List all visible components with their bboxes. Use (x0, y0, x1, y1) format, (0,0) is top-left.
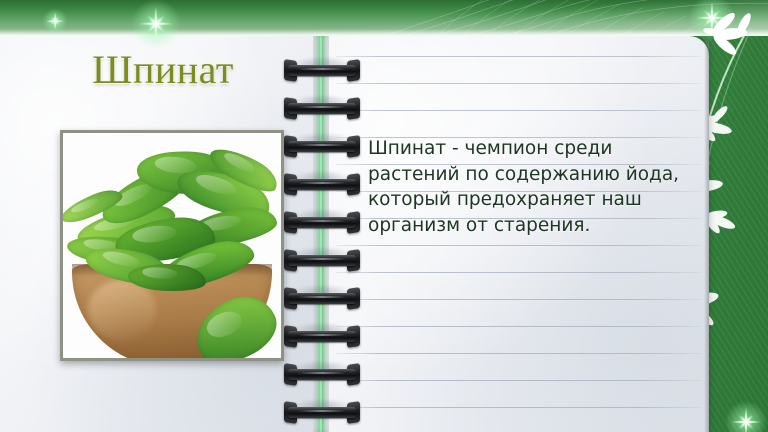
spiral-ring (282, 286, 362, 312)
spinach-photo-frame (60, 130, 284, 361)
page-rule-line (336, 407, 702, 408)
page-rule-line (336, 380, 702, 381)
spiral-ring (282, 248, 362, 274)
page-rule-line (336, 272, 702, 273)
spiral-ring (282, 324, 362, 350)
page-rule-line (336, 245, 702, 246)
spiral-rings (282, 36, 362, 432)
page-title: Шпинат (28, 50, 298, 90)
spiral-ring (282, 134, 362, 160)
page-rule-line (336, 353, 702, 354)
spiral-ring (282, 172, 362, 198)
page-rule-line (336, 110, 702, 111)
page-rule-line (336, 83, 702, 84)
page-rule-line (336, 56, 702, 57)
spiral-ring (282, 210, 362, 236)
page-rule-line (336, 299, 702, 300)
spinach-photo (63, 133, 281, 358)
top-banner (0, 0, 768, 36)
spiral-ring (282, 96, 362, 122)
slide-canvas: Шпинат Шпинат - чемпион среди растений п… (0, 0, 768, 432)
spiral-ring (282, 400, 362, 426)
spiral-ring (282, 362, 362, 388)
leaf-cluster-banner (700, 8, 762, 60)
page-rule-line (336, 326, 702, 327)
body-text: Шпинат - чемпион среди растений по содер… (368, 136, 693, 238)
